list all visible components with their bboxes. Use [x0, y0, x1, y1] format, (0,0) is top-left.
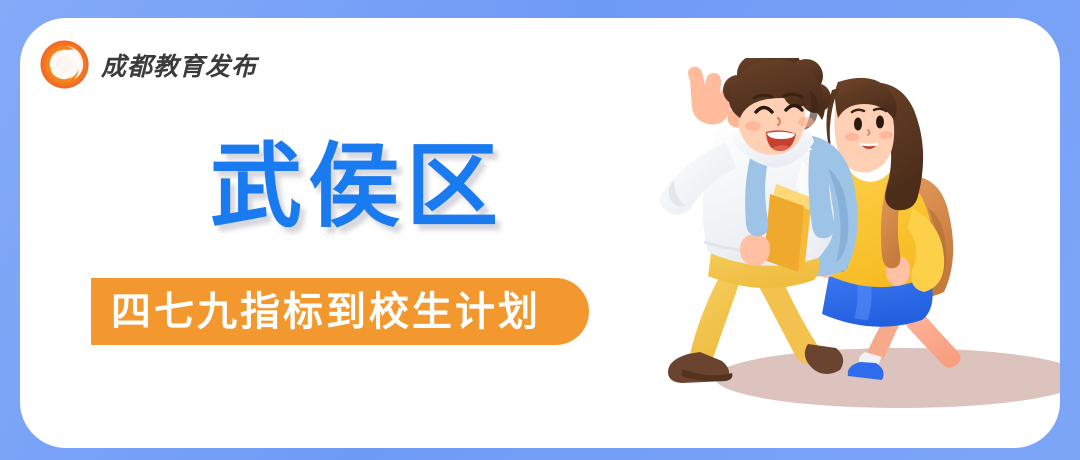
- ground-shadow: [715, 348, 1060, 408]
- sun-swirl-icon: [40, 40, 89, 89]
- banner-root: 成都教育发布 武侯区 四七九指标到校生计划: [0, 0, 1080, 460]
- boy-student: [660, 58, 858, 383]
- white-card: 成都教育发布 武侯区 四七九指标到校生计划: [20, 18, 1060, 448]
- page-title: 武侯区: [210, 141, 504, 233]
- subtitle-badge: 四七九指标到校生计划: [91, 278, 589, 345]
- brand-header: 成都教育发布: [40, 40, 257, 89]
- two-students-walking-illustration: [660, 58, 1060, 448]
- brand-name: 成都教育发布: [101, 47, 257, 83]
- subtitle-text: 四七九指标到校生计划: [111, 292, 541, 332]
